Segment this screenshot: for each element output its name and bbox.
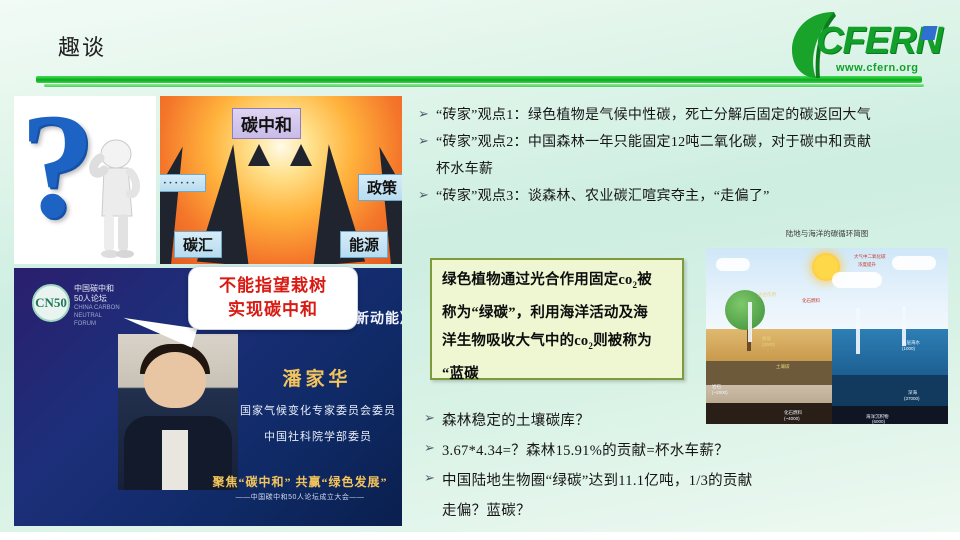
list-item: ➢ 3.67*4.34=？森林15.91%的贡献=杯水车薪？ (424, 438, 854, 464)
speaker-role-1: 国家气候变化专家委员会委员 (220, 402, 402, 418)
definition-line-3b: 则被称为 (593, 333, 652, 349)
label-sediment-value: (6000) (872, 419, 885, 424)
event-slogan: 聚焦“碳中和” 共赢“绿色发展” (200, 473, 400, 490)
definition-line-3: 洋生物吸收大气中的co2则被称为 (442, 327, 672, 360)
label-surface-value: (1000) (902, 346, 915, 351)
list-item-continuation: 走偏？蓝碳？ (424, 498, 854, 524)
road-tag-policy: 政策 (358, 174, 402, 201)
definition-line-1b: 被 (637, 272, 652, 288)
forum-name-en1: CHINA CARBON (74, 304, 120, 312)
logo-blue-accent (921, 26, 938, 40)
bullet-text: 走偏？蓝碳？ (442, 498, 531, 524)
definition-line-1a: 绿色植物通过光合作用固定co (442, 272, 633, 288)
slide-canvas: 趣谈 CFERN www.cfern.org ? 碳中和 (0, 0, 960, 540)
definition-callout-box: 绿色植物通过光合作用固定co2被 称为“绿碳”，利用海洋活动及海 洋生物吸收大气… (430, 258, 684, 380)
portrait-face (144, 352, 206, 408)
label-fossil-fuel: 化石燃料 (802, 298, 820, 304)
definition-line-2: 称为“绿碳”，利用海洋活动及海 (442, 299, 672, 327)
label-atmosphere: 大气中二氧化碳 (854, 254, 886, 260)
road-tag-energy: 能源 (340, 231, 388, 258)
road-tag-carbon-sink: 碳汇 (174, 231, 222, 258)
question-mark-icon: ? (20, 102, 95, 230)
label-rock-value: (~2000) (712, 390, 728, 395)
portrait-shirt (162, 430, 188, 490)
bullet-text: 杯水车薪 (436, 158, 493, 181)
bullet-arrow-icon: ➢ (424, 438, 442, 460)
callout-line-1: 不能指望栽树 (219, 274, 327, 298)
flow-arrow (856, 308, 860, 354)
logo-url: www.cfern.org (836, 62, 919, 74)
definition-line-3a: 洋生物吸收大气中的co (442, 333, 588, 349)
question-mark-illustration: ? (14, 96, 156, 264)
cfern-logo: CFERN www.cfern.org (782, 6, 946, 84)
forum-name-line2: 50人论坛 (74, 294, 120, 304)
list-item: ➢ “砖家”观点3：谈森林、农业碳汇喧宾夺主，“走偏了” (418, 185, 946, 208)
thinking-person-figure (86, 138, 142, 258)
footer-strip (0, 532, 960, 540)
bullet-text: 3.67*4.34=？森林15.91%的贡献=杯水车薪？ (442, 438, 729, 464)
cycle-sea-layer (832, 329, 948, 375)
event-subtitle: ——中国碳中和50人论坛成立大会—— (200, 492, 400, 502)
callout-line-2: 实现碳中和 (228, 298, 318, 322)
list-item: ➢ “砖家”观点2：中国森林一年只能固定12吨二氧化碳，对于碳中和贡献 (418, 131, 946, 154)
carbon-neutrality-road-image: 碳中和 ······ 政策 碳汇 能源 (160, 96, 402, 264)
bullet-arrow-icon: ➢ (424, 468, 442, 490)
label-atmosphere-2: 浓度提升 (858, 262, 876, 268)
arrow-up-icon (290, 144, 312, 166)
bullet-arrow-icon: ➢ (424, 408, 442, 430)
bullet-text: 中国陆地生物圈“绿碳”达到11.1亿吨，1/3的贡献 (442, 468, 753, 494)
speaker-role-2: 中国社科院学部委员 (220, 428, 402, 444)
cloud-icon (832, 272, 882, 288)
road-tag-dots: ······ (160, 174, 206, 192)
list-item-continuation: 杯水车薪 (418, 158, 946, 181)
forum-name-en3: FORUM (74, 320, 120, 328)
forum-logo-icon: CN50 (32, 284, 70, 322)
bottom-bullet-list: ➢ 森林稳定的土壤碳库？ ➢ 3.67*4.34=？森林15.91%的贡献=杯水… (424, 408, 854, 528)
cycle-image-caption: 陆地与海洋的碳循环简图 (706, 228, 948, 239)
forum-name-block: 中国碳中和 50人论坛 CHINA CARBON NEUTRAL FORUM (74, 284, 120, 328)
bullet-arrow-icon: ➢ (418, 104, 436, 126)
bullet-text: “砖家”观点3：谈森林、农业碳汇喧宾夺主，“走偏了” (436, 185, 770, 208)
cycle-deep-ocean-layer (832, 375, 948, 407)
top-bullet-list: ➢ “砖家”观点1：绿色植物是气候中性碳，死亡分解后固定的碳返回大气 ➢ “砖家… (418, 104, 946, 212)
speaker-name: 潘家华 (242, 364, 392, 391)
label-soil: 土壤碳 (776, 364, 790, 370)
bullet-arrow-icon: ➢ (418, 131, 436, 153)
bullet-text: “砖家”观点2：中国森林一年只能固定12吨二氧化碳，对于碳中和贡献 (436, 131, 871, 154)
bullet-text: “砖家”观点1：绿色植物是气候中性碳，死亡分解后固定的碳返回大气 (436, 104, 871, 127)
label-photosynthesis: 光合作用 (758, 292, 776, 298)
flow-arrow (748, 302, 752, 342)
header-divider-rule-thin (44, 84, 924, 87)
callout-bubble: 不能指望栽树 实现碳中和 (188, 266, 358, 330)
list-item: ➢ 森林稳定的土壤碳库？ (424, 408, 854, 434)
forum-name-en2: NEUTRAL (74, 312, 120, 320)
bullet-text: 森林稳定的土壤碳库？ (442, 408, 590, 434)
definition-line-1: 绿色植物通过光合作用固定co2被 (442, 266, 672, 299)
definition-line-4: “蓝碳 (442, 360, 672, 388)
bullet-arrow-icon: ➢ (418, 185, 436, 207)
list-item: ➢ 中国陆地生物圈“绿碳”达到11.1亿吨，1/3的贡献 (424, 468, 854, 494)
list-item: ➢ “砖家”观点1：绿色植物是气候中性碳，死亡分解后固定的碳返回大气 (418, 104, 946, 127)
page-title: 趣谈 (58, 30, 106, 62)
road-tag-carbon-neutrality: 碳中和 (232, 108, 301, 139)
cloud-icon (716, 258, 750, 271)
forum-name-line1: 中国碳中和 (74, 284, 120, 294)
carbon-cycle-diagram-image: 大气中二氧化碳 浓度提升 化石燃料 光合作用 植被 (2000) 土壤碳 岩石 … (706, 248, 948, 424)
label-deep-ocean-value: (37000) (904, 396, 920, 401)
cycle-soil-layer (706, 361, 832, 386)
label-vegetation-value: (2000) (762, 342, 775, 347)
cloud-icon (892, 256, 936, 270)
arrow-up-icon (248, 144, 270, 166)
